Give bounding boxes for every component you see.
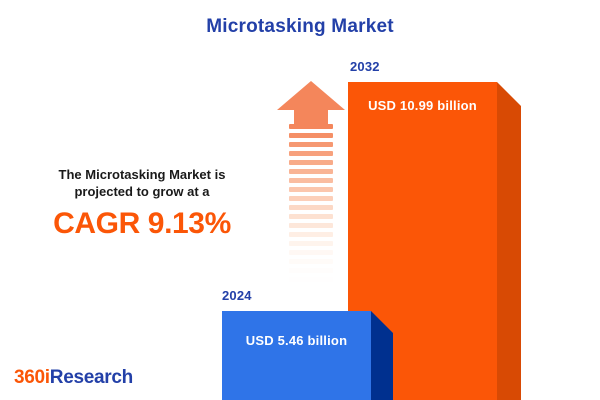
bar-2032-side-face: [497, 82, 521, 400]
statement-line-2: projected to grow at a: [18, 183, 266, 200]
bar-year-label-2032: 2032: [350, 59, 380, 74]
bar-2024-front-face: [222, 311, 371, 400]
bar-2032-value-label: USD 10.99 billion: [348, 98, 497, 113]
growth-statement: The Microtasking Market is projected to …: [18, 166, 266, 241]
brand-logo: 360iResearch: [14, 367, 133, 389]
brand-logo-word: Research: [50, 367, 133, 388]
brand-logo-mark: 360i: [14, 367, 50, 388]
arrow-stripes: [289, 124, 333, 292]
arrow-head-icon: [276, 80, 346, 124]
infographic-canvas: Microtasking Market The Mi: [0, 0, 600, 400]
bar-2024: USD 5.46 billion: [222, 311, 371, 400]
bar-2024-value-label: USD 5.46 billion: [222, 333, 371, 348]
page-title: Microtasking Market: [0, 16, 600, 38]
up-arrow-icon: [276, 80, 346, 292]
statement-line-1: The Microtasking Market is: [18, 166, 266, 183]
bar-year-label-2024: 2024: [222, 288, 252, 303]
cagr-value: CAGR 9.13%: [18, 207, 266, 241]
